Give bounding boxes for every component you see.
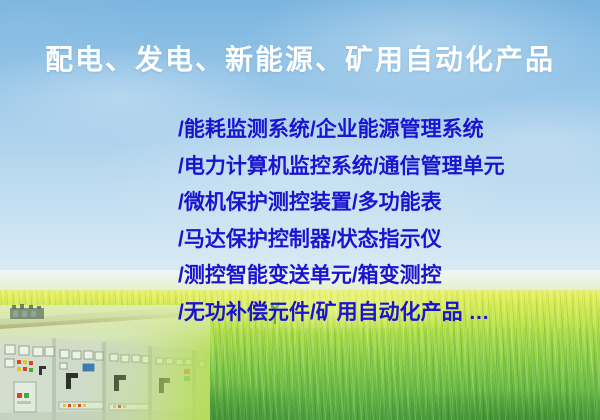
product-list-item: /测控智能变送单元/箱变测控 (178, 258, 590, 295)
product-list-item: /电力计算机监控系统/通信管理单元 (178, 149, 590, 186)
product-list-item: /马达保护控制器/状态指示仪 (178, 222, 590, 259)
page-title: 配电、发电、新能源、矿用自动化产品 (0, 43, 600, 77)
rooftop-equipment-icon (8, 304, 46, 320)
product-list-item: /能耗监测系统/企业能源管理系统 (178, 112, 590, 149)
product-list-item: /微机保护测控装置/多功能表 (178, 185, 590, 222)
product-list: /能耗监测系统/企业能源管理系统 /电力计算机监控系统/通信管理单元 /微机保护… (178, 112, 590, 331)
promotional-banner: 配电、发电、新能源、矿用自动化产品 /能耗监测系统/企业能源管理系统 /电力计算… (0, 0, 600, 420)
product-list-item: /无功补偿元件/矿用自动化产品 … (178, 295, 590, 332)
